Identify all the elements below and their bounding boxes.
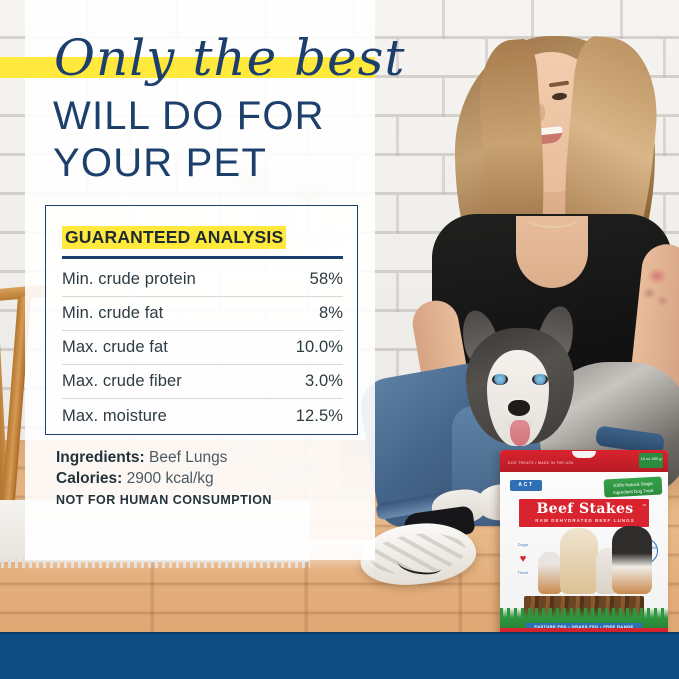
footer-details: Ingredients: Beef Lungs Calories: 2900 k… xyxy=(56,447,356,507)
headline-line-2: YOUR PET xyxy=(53,142,267,184)
row-label: Min. crude fat xyxy=(62,304,163,323)
package-hang-hole xyxy=(572,451,596,458)
row-label: Min. crude protein xyxy=(62,270,196,289)
package-dog-bernese xyxy=(612,526,652,594)
husky-nose xyxy=(508,400,530,416)
row-value: 10.0% xyxy=(296,338,343,357)
package-subtitle: RAW DEHYDRATED BEEF LUNGS xyxy=(519,518,651,523)
human-consumption-disclaimer: NOT FOR HUMAN CONSUMPTION xyxy=(56,493,356,507)
guaranteed-analysis-title: GUARANTEED ANALYSIS xyxy=(62,226,286,249)
woman-arm-tattoo xyxy=(637,260,676,313)
table-row: Min. crude fat 8% xyxy=(62,297,343,331)
row-label: Max. crude fiber xyxy=(62,372,182,391)
row-value: 3.0% xyxy=(305,372,343,391)
package-weight-badge: 10 oz 283 g xyxy=(639,453,663,468)
row-label: Max. moisture xyxy=(62,407,167,426)
panel-bottom-fade xyxy=(25,540,375,570)
package-badge-left: ACT xyxy=(510,480,542,491)
row-value: 12.5% xyxy=(296,407,343,426)
table-row: Max. moisture 12.5% xyxy=(62,399,343,433)
package-brand-box: Beef Stakes ™ RAW DEHYDRATED BEEF LUNGS xyxy=(518,498,650,528)
ingredients-value: Beef Lungs xyxy=(145,449,228,466)
headline-script-line: Only the best xyxy=(54,33,405,83)
husky-tongue xyxy=(510,420,530,446)
heart-bottom-text: Them xyxy=(512,566,534,580)
table-row: Min. crude protein 58% xyxy=(62,263,343,297)
ingredients-line: Ingredients: Beef Lungs xyxy=(56,447,356,468)
package-heart-graphic: Dogs ♥ Them xyxy=(512,538,534,560)
table-row: Max. crude fiber 3.0% xyxy=(62,365,343,399)
row-value: 58% xyxy=(310,270,343,289)
row-label: Max. crude fat xyxy=(62,338,168,357)
calories-value: 2900 kcal/kg xyxy=(122,470,213,487)
package-brand-name: Beef Stakes xyxy=(519,502,651,517)
husky-eye-left xyxy=(492,374,508,385)
woman-necklace xyxy=(524,202,582,228)
package-trademark-symbol: ™ xyxy=(642,503,646,508)
bottom-blue-bar xyxy=(0,632,679,679)
calories-label: Calories: xyxy=(56,470,122,487)
card-title-wrap: GUARANTEED ANALYSIS xyxy=(62,226,286,249)
heart-top-text: Dogs xyxy=(512,538,534,552)
package-dog-jack-russell-small xyxy=(538,552,562,594)
package-badge-natural: 100% Natural Single Ingredient Dog Treat xyxy=(604,476,663,497)
guaranteed-analysis-card: GUARANTEED ANALYSIS Min. crude protein 5… xyxy=(45,205,358,435)
package-dog-labrador xyxy=(560,528,598,594)
ad-canvas: Only the best WILL DO FOR YOUR PET GUARA… xyxy=(0,0,679,679)
headline-line-1: WILL DO FOR xyxy=(53,95,325,137)
calories-line: Calories: 2900 kcal/kg xyxy=(56,468,356,489)
analysis-rows: Min. crude protein 58% Min. crude fat 8%… xyxy=(62,263,343,433)
row-value: 8% xyxy=(319,304,343,323)
package-top-strip-text: DOG TREATS • MADE IN THE USA xyxy=(508,461,574,465)
table-row: Max. crude fat 10.0% xyxy=(62,331,343,365)
heart-icon: ♥ xyxy=(520,553,527,565)
card-title-underline xyxy=(62,256,343,259)
husky-eye-right xyxy=(532,374,548,385)
product-package: DOG TREATS • MADE IN THE USA 10 oz 283 g… xyxy=(500,450,668,646)
ingredients-label: Ingredients: xyxy=(56,449,145,466)
